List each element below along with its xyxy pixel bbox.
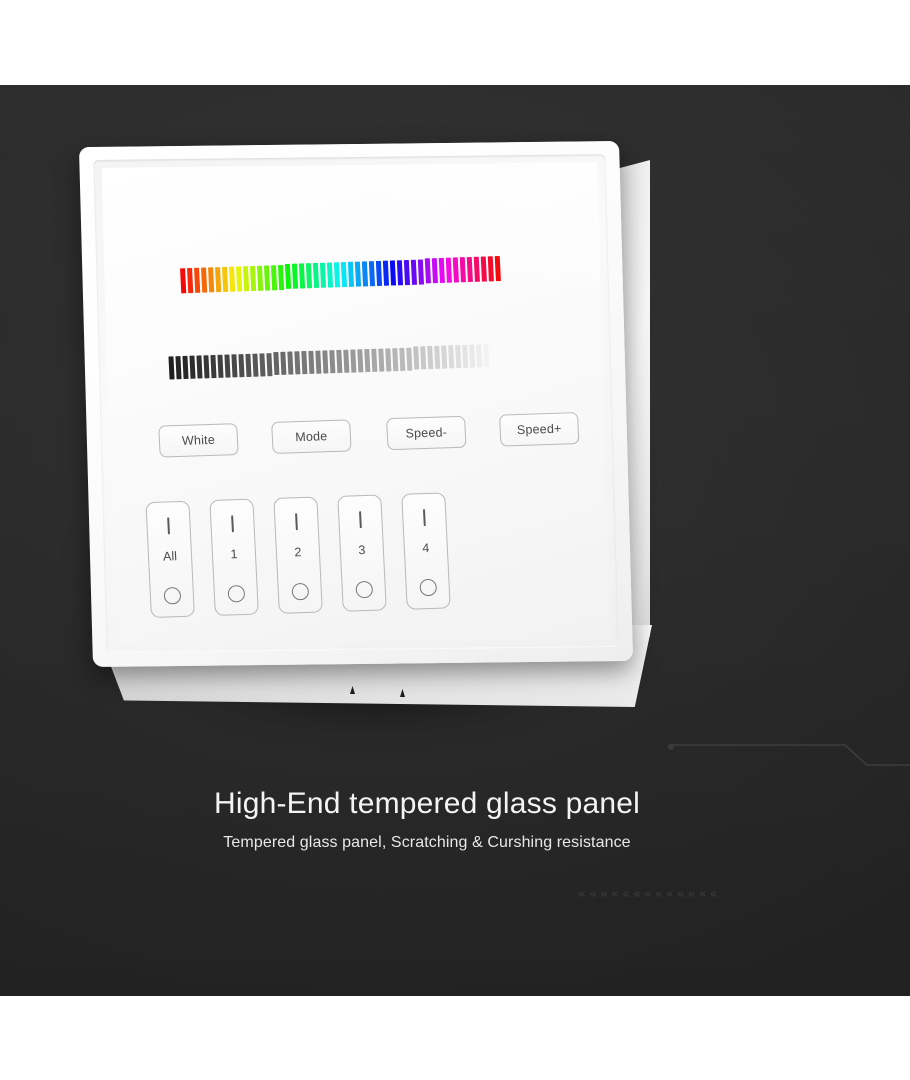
chevron-left-icon: « [600, 888, 608, 901]
chevron-left-icon: « [578, 888, 586, 901]
speed-down-button[interactable]: Speed- [386, 416, 466, 451]
tempered-glass-surface[interactable]: WhiteModeSpeed-Speed+ All1234 [102, 162, 611, 644]
chevron-left-icon: « [622, 888, 630, 901]
hue-segment[interactable] [299, 264, 305, 289]
hue-segment[interactable] [355, 262, 361, 287]
hue-segment[interactable] [439, 258, 445, 283]
brightness-segment[interactable] [357, 349, 363, 372]
hue-segment[interactable] [495, 256, 501, 281]
hue-segment[interactable] [285, 264, 291, 289]
chevron-left-icon: « [633, 888, 641, 901]
zone-button-label: 2 [294, 546, 302, 559]
function-button-label: Mode [295, 429, 328, 444]
zone-button-4[interactable]: 4 [401, 492, 451, 609]
brightness-segment[interactable] [301, 351, 307, 374]
wall-panel-product: WhiteModeSpeed-Speed+ All1234 [0, 0, 910, 1080]
hue-segment[interactable] [257, 265, 263, 290]
brightness-segment[interactable] [420, 347, 426, 370]
power-off-icon [291, 583, 309, 601]
brightness-segment[interactable] [217, 355, 223, 378]
brightness-segment[interactable] [238, 354, 244, 377]
brightness-segment[interactable] [308, 351, 314, 374]
brightness-segment[interactable] [322, 350, 328, 373]
brightness-segment[interactable] [378, 348, 384, 371]
zone-button-label: All [163, 550, 177, 563]
brightness-segment[interactable] [189, 356, 195, 379]
hue-segment[interactable] [488, 256, 494, 281]
zone-button-label: 4 [422, 542, 430, 555]
brightness-segment[interactable] [350, 349, 356, 372]
brightness-segment[interactable] [392, 348, 398, 371]
hue-segment[interactable] [411, 259, 417, 284]
hue-segment[interactable] [446, 258, 452, 283]
hue-segment[interactable] [250, 266, 256, 291]
brightness-segment[interactable] [483, 344, 489, 367]
brightness-segment[interactable] [315, 351, 321, 374]
white-button[interactable]: White [158, 423, 238, 458]
brightness-segment[interactable] [273, 352, 279, 375]
chevron-left-icon: « [589, 888, 597, 901]
power-on-icon [231, 515, 234, 532]
function-button-label: White [182, 433, 216, 448]
brightness-segment[interactable] [287, 352, 293, 375]
power-on-icon [423, 509, 426, 526]
hue-segment[interactable] [243, 266, 249, 291]
hue-segment[interactable] [376, 261, 382, 286]
hue-segment[interactable] [194, 268, 200, 293]
hue-segment[interactable] [397, 260, 403, 285]
hue-segment[interactable] [264, 265, 270, 290]
hue-segment[interactable] [390, 260, 396, 285]
zone-button-1[interactable]: 1 [209, 499, 259, 616]
hue-segment[interactable] [222, 267, 228, 292]
brightness-segment[interactable] [231, 354, 237, 377]
chevron-left-icon: « [611, 888, 619, 901]
hue-segment[interactable] [453, 258, 459, 283]
zone-button-label: 1 [230, 548, 238, 561]
brightness-segment[interactable] [343, 350, 349, 373]
headline-text: High-End tempered glass panel [0, 787, 910, 821]
trace-endpoint-dot [668, 744, 674, 750]
hue-segment[interactable] [278, 265, 284, 290]
zone-button-label: 3 [358, 544, 366, 557]
hue-segment[interactable] [208, 267, 214, 292]
hue-segment[interactable] [313, 263, 319, 288]
hue-segment[interactable] [474, 257, 480, 282]
brightness-segment[interactable] [280, 352, 286, 375]
hue-segment[interactable] [425, 259, 431, 284]
brightness-segment[interactable] [399, 347, 405, 370]
brightness-segment[interactable] [476, 344, 482, 367]
chevron-left-icon: « [688, 888, 696, 901]
power-off-icon [163, 587, 181, 605]
zone-button-all[interactable]: All [145, 501, 195, 618]
speed-up-button[interactable]: Speed+ [499, 412, 579, 447]
subheadline-text: Tempered glass panel, Scratching & Cursh… [0, 834, 910, 852]
hue-segment[interactable] [215, 267, 221, 292]
power-on-icon [295, 513, 298, 530]
hue-segment[interactable] [404, 260, 410, 285]
hue-segment[interactable] [236, 266, 242, 291]
hue-segment[interactable] [180, 268, 186, 293]
product-marketing-banner: WhiteModeSpeed-Speed+ All1234 ««««««««««… [0, 0, 910, 1080]
hue-segment[interactable] [271, 265, 277, 290]
zone-button-2[interactable]: 2 [273, 497, 323, 614]
brightness-segment[interactable] [329, 350, 335, 373]
hue-segment[interactable] [467, 257, 473, 282]
hue-segment[interactable] [362, 261, 368, 286]
hue-segment[interactable] [481, 257, 487, 282]
hue-segment[interactable] [187, 268, 193, 293]
brightness-segment[interactable] [448, 346, 454, 369]
brightness-segment[interactable] [175, 356, 181, 379]
power-on-icon [167, 517, 170, 534]
chevron-left-icon: « [710, 888, 718, 901]
brightness-segment[interactable] [371, 349, 377, 372]
chevron-decoration: ««««««««««««« [578, 888, 718, 901]
hue-segment[interactable] [327, 263, 333, 288]
hue-segment[interactable] [320, 263, 326, 288]
chevron-left-icon: « [666, 888, 674, 901]
brightness-segment[interactable] [168, 357, 174, 380]
chevron-left-icon: « [655, 888, 663, 901]
chevron-left-icon: « [699, 888, 707, 901]
brightness-segment[interactable] [224, 354, 230, 377]
hue-segment[interactable] [418, 259, 424, 284]
brightness-segment[interactable] [455, 345, 461, 368]
hue-segment[interactable] [348, 262, 354, 287]
brightness-segment[interactable] [434, 346, 440, 369]
hue-segment[interactable] [334, 262, 340, 287]
function-button-label: Speed- [405, 425, 447, 440]
hue-segment[interactable] [306, 263, 312, 288]
hue-segment[interactable] [432, 259, 438, 284]
brightness-segment[interactable] [266, 353, 272, 376]
zone-button-row: All1234 [145, 488, 600, 618]
panel-bevel-frame: WhiteModeSpeed-Speed+ All1234 [93, 154, 618, 653]
hue-segment[interactable] [292, 264, 298, 289]
color-hue-slider[interactable] [180, 256, 501, 293]
brightness-segment[interactable] [336, 350, 342, 373]
function-button-row: WhiteModeSpeed-Speed+ [158, 412, 579, 458]
hue-segment[interactable] [341, 262, 347, 287]
hue-segment[interactable] [229, 266, 235, 291]
function-button-label: Speed+ [517, 422, 562, 437]
power-on-icon [359, 511, 362, 528]
brightness-segment[interactable] [203, 355, 209, 378]
hue-segment[interactable] [460, 257, 466, 282]
zone-button-3[interactable]: 3 [337, 494, 387, 611]
brightness-segment[interactable] [196, 355, 202, 378]
hue-segment[interactable] [383, 260, 389, 285]
brightness-segment[interactable] [182, 356, 188, 379]
brightness-segment[interactable] [294, 352, 300, 375]
brightness-segment[interactable] [364, 349, 370, 372]
power-off-icon [419, 579, 437, 597]
panel-front-face: WhiteModeSpeed-Speed+ All1234 [79, 141, 633, 667]
chevron-left-icon: « [677, 888, 685, 901]
brightness-segment[interactable] [469, 345, 475, 368]
brightness-segment[interactable] [462, 345, 468, 368]
mode-button[interactable]: Mode [271, 419, 351, 454]
brightness-segment[interactable] [385, 348, 391, 371]
brightness-segment[interactable] [252, 353, 258, 376]
brightness-segment[interactable] [259, 353, 265, 376]
brightness-segment[interactable] [427, 346, 433, 369]
brightness-segment[interactable] [245, 353, 251, 376]
chevron-left-icon: « [644, 888, 652, 901]
brightness-segment[interactable] [441, 346, 447, 369]
brightness-segment[interactable] [210, 355, 216, 378]
power-off-icon [227, 585, 245, 603]
brightness-slider[interactable] [168, 344, 489, 379]
brightness-segment[interactable] [413, 347, 419, 370]
hue-segment[interactable] [201, 268, 207, 293]
hue-segment[interactable] [369, 261, 375, 286]
brightness-segment[interactable] [406, 347, 412, 370]
power-off-icon [355, 581, 373, 599]
